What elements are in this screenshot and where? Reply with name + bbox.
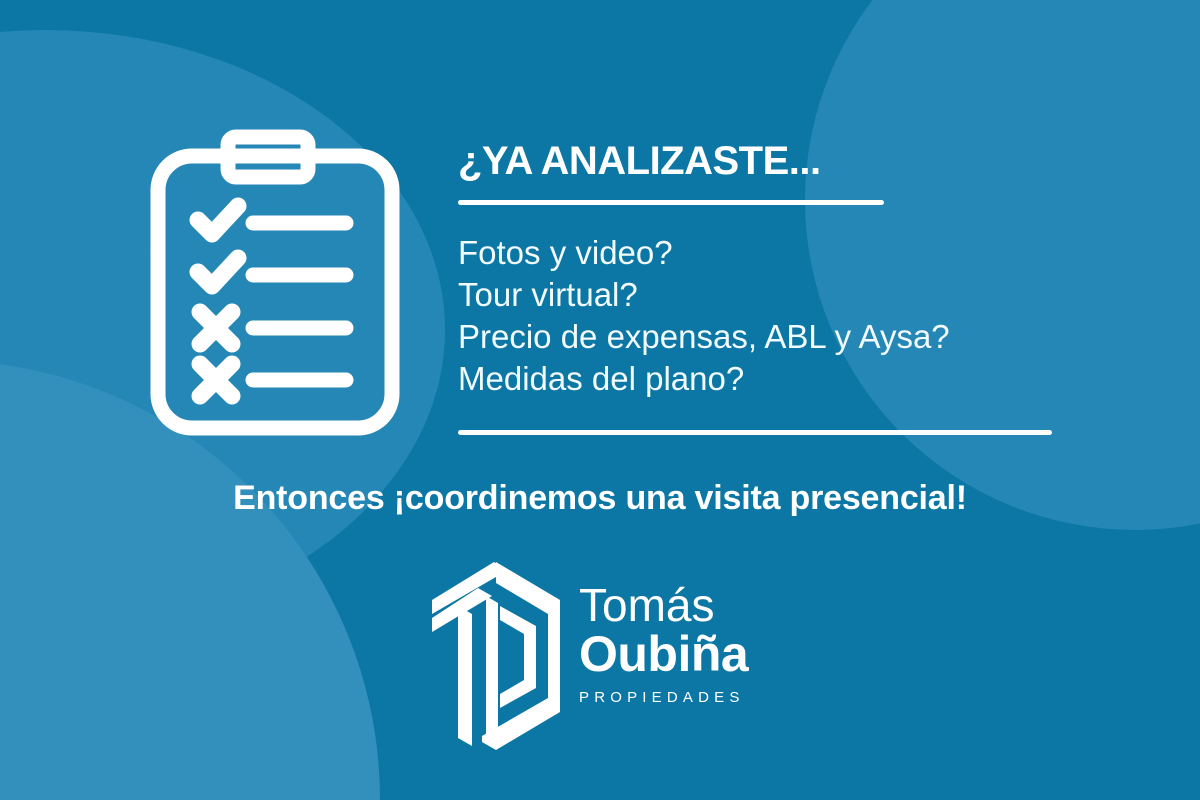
promo-card: ¿YA ANALIZASTE... Fotos y video? Tour vi… (0, 0, 1200, 800)
brand-subtitle: PROPIEDADES (579, 689, 799, 706)
tagline: Entonces ¡coordinemos una visita presenc… (0, 479, 1200, 518)
divider-top (458, 200, 884, 205)
divider-bottom (458, 430, 1052, 435)
to-monogram-building-icon (424, 560, 564, 752)
list-item: Precio de expensas, ABL y Aysa? (458, 316, 950, 358)
list-item: Fotos y video? (458, 232, 950, 274)
list-item: Medidas del plano? (458, 358, 950, 400)
clipboard-checklist-icon (150, 128, 400, 440)
brand-logo: Tomás Oubiña PROPIEDADES (424, 560, 796, 760)
brand-name-last: Oubiña (579, 628, 799, 681)
brand-wordmark: Tomás Oubiña PROPIEDADES (579, 582, 799, 706)
list-item: Tour virtual? (458, 274, 950, 316)
brand-name-first: Tomás (579, 582, 799, 628)
checklist-questions: Fotos y video? Tour virtual? Precio de e… (458, 232, 950, 400)
headline: ¿YA ANALIZASTE... (458, 141, 821, 181)
